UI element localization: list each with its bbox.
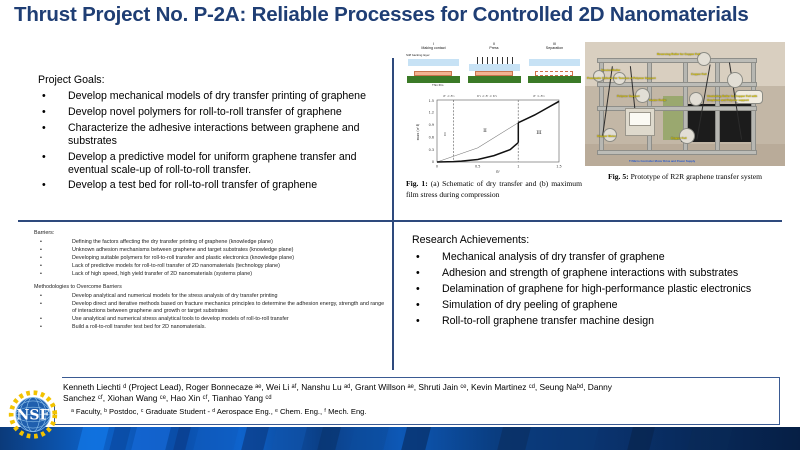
svg-text:δ' > δ'₂: δ' > δ'₂: [533, 94, 545, 98]
panel-label: Press: [489, 46, 498, 50]
goal-text: Characterize the adhesive interactions b…: [68, 122, 388, 148]
figure-5: Reversing Roller for Copper Foil Tension…: [585, 42, 785, 166]
bullet-glyph: •: [34, 293, 72, 300]
bar-stripe: [240, 427, 271, 450]
photo-label: Polymer Support: [617, 94, 640, 98]
svg-text:1.5: 1.5: [556, 165, 561, 169]
barrier-text: Unknown adhesion mechanisms between grap…: [72, 247, 386, 254]
achievement-text: Delamination of graphene for high-perfor…: [442, 283, 784, 296]
svg-text:1: 1: [517, 165, 519, 169]
achievement-text: Roll-to-roll graphene transfer machine d…: [442, 315, 784, 328]
barrier-bullet: • Lack of high speed, high yield transfe…: [34, 271, 386, 278]
schematic-panel-1-caption: I Making contact: [406, 42, 461, 50]
photo-label: Heater Roller: [649, 98, 666, 102]
thin-film-layer: [475, 71, 513, 76]
stiff-backing-layer: [469, 64, 520, 71]
bullet-glyph: •: [38, 151, 68, 177]
photo-label: Pneumatic Cylinder for Tension of Polyme…: [587, 76, 656, 80]
press-arrows-icon: [477, 57, 513, 64]
figure-1-caption: Fig. 1: (a) Schematic of dry transfer an…: [406, 178, 582, 200]
barriers-heading: Barriers:: [34, 230, 386, 237]
achievement-bullet: • Adhesion and strength of graphene inte…: [412, 267, 784, 280]
bar-stripe: [172, 427, 193, 450]
thin-film-layer: [414, 71, 452, 76]
stiff-backing-layer: [408, 59, 459, 66]
layer-stack: [406, 55, 461, 83]
nsf-logo-text: NSF: [17, 408, 50, 424]
schematic-panel-3: III Separation: [527, 42, 582, 88]
bullet-glyph: •: [34, 239, 72, 246]
barrier-bullet: • Developing suitable polymers for roll-…: [34, 255, 386, 262]
bar-stripe: [316, 427, 343, 450]
barrier-bullet: • Defining the factors affecting the dry…: [34, 239, 386, 246]
bar-stripe: [686, 427, 735, 450]
author-list: Kenneth Liechti ᵈ (Project Lead), Roger …: [63, 382, 773, 405]
svg-text:δ'₁ < δ' < δ'₂: δ'₁ < δ' < δ'₂: [477, 94, 497, 98]
y-axis-ticks: 0 0.3 0.6 0.9 1.2 1.5: [429, 99, 434, 164]
max-film-stress-chart: 0 0.3 0.6 0.9 1.2 1.5 0 0.5 1 1.5 max (σ…: [409, 92, 569, 174]
substrate-layer: [407, 76, 460, 83]
page-title: Thrust Project No. P-2A: Reliable Proces…: [14, 4, 784, 27]
bar-stripe: [496, 427, 533, 450]
svg-text:0.9: 0.9: [429, 123, 434, 127]
methodology-text: Develop analytical and numerical models …: [72, 293, 386, 300]
bullet-glyph: •: [412, 315, 442, 328]
schematic-panel-3-caption: III Separation: [527, 42, 582, 50]
goal-text: Develop a test bed for roll-to-roll tran…: [68, 179, 388, 192]
x-axis-ticks: 0 0.5 1 1.5: [436, 165, 562, 169]
photo-label: Stepper Motor: [597, 134, 616, 138]
nsf-logo: NSF: [7, 387, 59, 442]
barriers-section: Barriers: • Defining the factors affecti…: [34, 230, 386, 332]
svg-text:III: III: [536, 131, 541, 136]
bar-stripe: [400, 427, 433, 450]
svg-text:δ' < δ'₁: δ' < δ'₁: [443, 94, 454, 98]
layer-stack: [467, 55, 522, 83]
bullet-glyph: •: [34, 316, 72, 323]
svg-text:1.2: 1.2: [429, 111, 434, 115]
bar-stripe: [556, 427, 601, 450]
frame-beam: [597, 106, 757, 111]
achievement-bullet: • Delamination of graphene for high-perf…: [412, 283, 784, 296]
goal-bullet: • Develop a test bed for roll-to-roll tr…: [38, 179, 388, 192]
goal-text: Develop a predictive model for uniform g…: [68, 151, 388, 177]
dry-transfer-schematic: I Making contact Stiff backing layer Thi…: [406, 42, 582, 88]
schematic-panel-1: I Making contact Stiff backing layer Thi…: [406, 42, 461, 88]
goal-bullet: • Develop novel polymers for roll-to-rol…: [38, 106, 388, 119]
y-axis-label: max (σ' f): [416, 123, 420, 140]
frame-beam: [597, 58, 757, 63]
achievements-heading: Research Achievements:: [412, 234, 784, 247]
goal-bullet: • Develop a predictive model for uniform…: [38, 151, 388, 177]
schematic-panel-2-caption: II Press: [467, 42, 522, 50]
bullet-glyph: •: [34, 271, 72, 278]
figure-5-caption: Fig. 5: Prototype of R2R graphene transf…: [585, 172, 785, 182]
vertical-divider: [392, 58, 394, 370]
svg-text:0.5: 0.5: [475, 165, 480, 169]
region-headers: δ' < δ'₁ δ'₁ < δ' < δ'₂ δ' > δ'₂: [443, 94, 545, 98]
substrate-layer: [528, 76, 581, 83]
layer-stack: [527, 55, 582, 83]
barrier-bullet: • Lack of predictive models for roll-to-…: [34, 263, 386, 270]
achievement-text: Adhesion and strength of graphene intera…: [442, 267, 784, 280]
bar-stripe: [192, 427, 241, 450]
achievement-bullet: • Simulation of dry peeling of graphene: [412, 299, 784, 312]
thin-film-layer: [535, 71, 573, 76]
svg-text:0.6: 0.6: [429, 135, 434, 139]
substrate-layer: [468, 76, 521, 83]
x-axis-label: δ': [496, 169, 500, 174]
bar-stripe: [442, 427, 491, 450]
barrier-text: Lack of predictive models for roll-to-ro…: [72, 263, 386, 270]
methodology-bullet: • Develop direct and iterative methods b…: [34, 301, 386, 315]
bullet-glyph: •: [412, 299, 442, 312]
author-line-1: Kenneth Liechti ᵈ (Project Lead), Roger …: [63, 382, 773, 393]
methodology-bullet: • Build a roll-to-roll transfer test bed…: [34, 324, 386, 331]
bullet-glyph: •: [412, 283, 442, 296]
figure-1-caption-label: Fig. 1:: [406, 179, 428, 188]
achievement-bullet: • Mechanical analysis of dry transfer of…: [412, 251, 784, 264]
bar-stripe: [626, 427, 657, 450]
affiliation-legend: ᵃ Faculty, ᵇ Postdoc, ᶜ Graduate Student…: [63, 407, 773, 417]
svg-text:1.5: 1.5: [429, 99, 434, 103]
bullet-glyph: •: [38, 106, 68, 119]
bullet-glyph: •: [34, 255, 72, 262]
r2r-prototype-photo: Reversing Roller for Copper Foil Tension…: [585, 42, 785, 166]
bullet-glyph: •: [34, 263, 72, 270]
panel-label: Separation: [546, 46, 563, 50]
photo-label: Reversing Roller for Copper Foil: [657, 52, 700, 56]
figure-1: I Making contact Stiff backing layer Thi…: [406, 42, 582, 88]
bar-stripe: [130, 427, 173, 450]
bar-stripe: [270, 427, 309, 450]
barrier-bullet: • Unknown adhesion mechanisms between gr…: [34, 247, 386, 254]
photo-label: TI Micro Controller Motor Drive and Powe…: [629, 159, 695, 163]
bullet-glyph: •: [38, 122, 68, 148]
bullet-glyph: •: [412, 267, 442, 280]
controller-display: [629, 112, 651, 126]
figure-1-caption-text: (a) Schematic of dry transfer and (b) ma…: [406, 179, 582, 199]
schematic-panel-2: II Press: [467, 42, 522, 88]
photo-label: Copper Foil: [671, 136, 687, 140]
achievement-text: Simulation of dry peeling of graphene: [442, 299, 784, 312]
author-line-2: Sanchez ᶜᶠ, Xiohan Wang ᶜᵉ, Hao Xin ᶜᶠ, …: [63, 393, 773, 404]
research-achievements-section: Research Achievements: • Mechanical anal…: [412, 234, 784, 331]
bullet-glyph: •: [412, 251, 442, 264]
goal-text: Develop mechanical models of dry transfe…: [68, 90, 388, 103]
goal-text: Develop novel polymers for roll-to-roll …: [68, 106, 388, 119]
heater-roller: [689, 92, 703, 106]
svg-text:I: I: [444, 133, 446, 138]
figure-5-caption-text: Prototype of R2R graphene transfer syste…: [629, 172, 762, 181]
frame-beam: [597, 150, 757, 155]
bullet-glyph: •: [34, 301, 72, 315]
photo-label: Unwinding Roller for Copper Foil with Gr…: [707, 94, 759, 102]
barrier-text: Developing suitable polymers for roll-to…: [72, 255, 386, 262]
barrier-text: Defining the factors affecting the dry t…: [72, 239, 386, 246]
bottom-bar: [0, 427, 800, 450]
project-goals-heading: Project Goals:: [38, 74, 388, 87]
bullet-glyph: •: [34, 247, 72, 254]
photo-label: Tension Roller: [601, 68, 620, 72]
methodology-text: Use analytical and numerical stress anal…: [72, 316, 386, 323]
thin-film-annotation: Thin film: [432, 83, 443, 87]
bullet-glyph: •: [38, 90, 68, 103]
stiff-backing-layer: [529, 59, 580, 66]
panel-label: Making contact: [421, 46, 445, 50]
unwinding-roller: [727, 72, 743, 88]
goal-bullet: • Characterize the adhesive interactions…: [38, 122, 388, 148]
bullet-glyph: •: [34, 324, 72, 331]
achievement-text: Mechanical analysis of dry transfer of g…: [442, 251, 784, 264]
achievement-bullet: • Roll-to-roll graphene transfer machine…: [412, 315, 784, 328]
barrier-text: Lack of high speed, high yield transfer …: [72, 271, 386, 278]
methodology-text: Develop direct and iterative methods bas…: [72, 301, 386, 315]
bullet-glyph: •: [38, 179, 68, 192]
svg-text:0.3: 0.3: [429, 148, 434, 152]
svg-text:II: II: [483, 129, 487, 134]
bar-stripe: [348, 427, 391, 450]
stiff-backing-annotation: Stiff backing layer: [406, 53, 430, 57]
methodology-bullet: • Develop analytical and numerical model…: [34, 293, 386, 300]
author-box: Kenneth Liechti ᵈ (Project Lead), Roger …: [54, 377, 780, 425]
svg-text:0: 0: [432, 160, 434, 164]
methodologies-heading: Methodologies to Overcome Barriers: [34, 284, 386, 291]
bar-stripe: [76, 427, 111, 450]
svg-text:0: 0: [436, 165, 438, 169]
methodology-bullet: • Use analytical and numerical stress an…: [34, 316, 386, 323]
horizontal-divider: [18, 220, 782, 222]
figure-5-caption-label: Fig. 5:: [608, 172, 629, 181]
goal-bullet: • Develop mechanical models of dry trans…: [38, 90, 388, 103]
methodology-text: Build a roll-to-roll transfer test bed f…: [72, 324, 386, 331]
project-goals-section: Project Goals: • Develop mechanical mode…: [38, 74, 388, 195]
bar-stripe: [108, 427, 133, 450]
chart-svg: 0 0.3 0.6 0.9 1.2 1.5 0 0.5 1 1.5 max (σ…: [409, 92, 569, 174]
photo-label: Copper Foil: [691, 72, 707, 76]
